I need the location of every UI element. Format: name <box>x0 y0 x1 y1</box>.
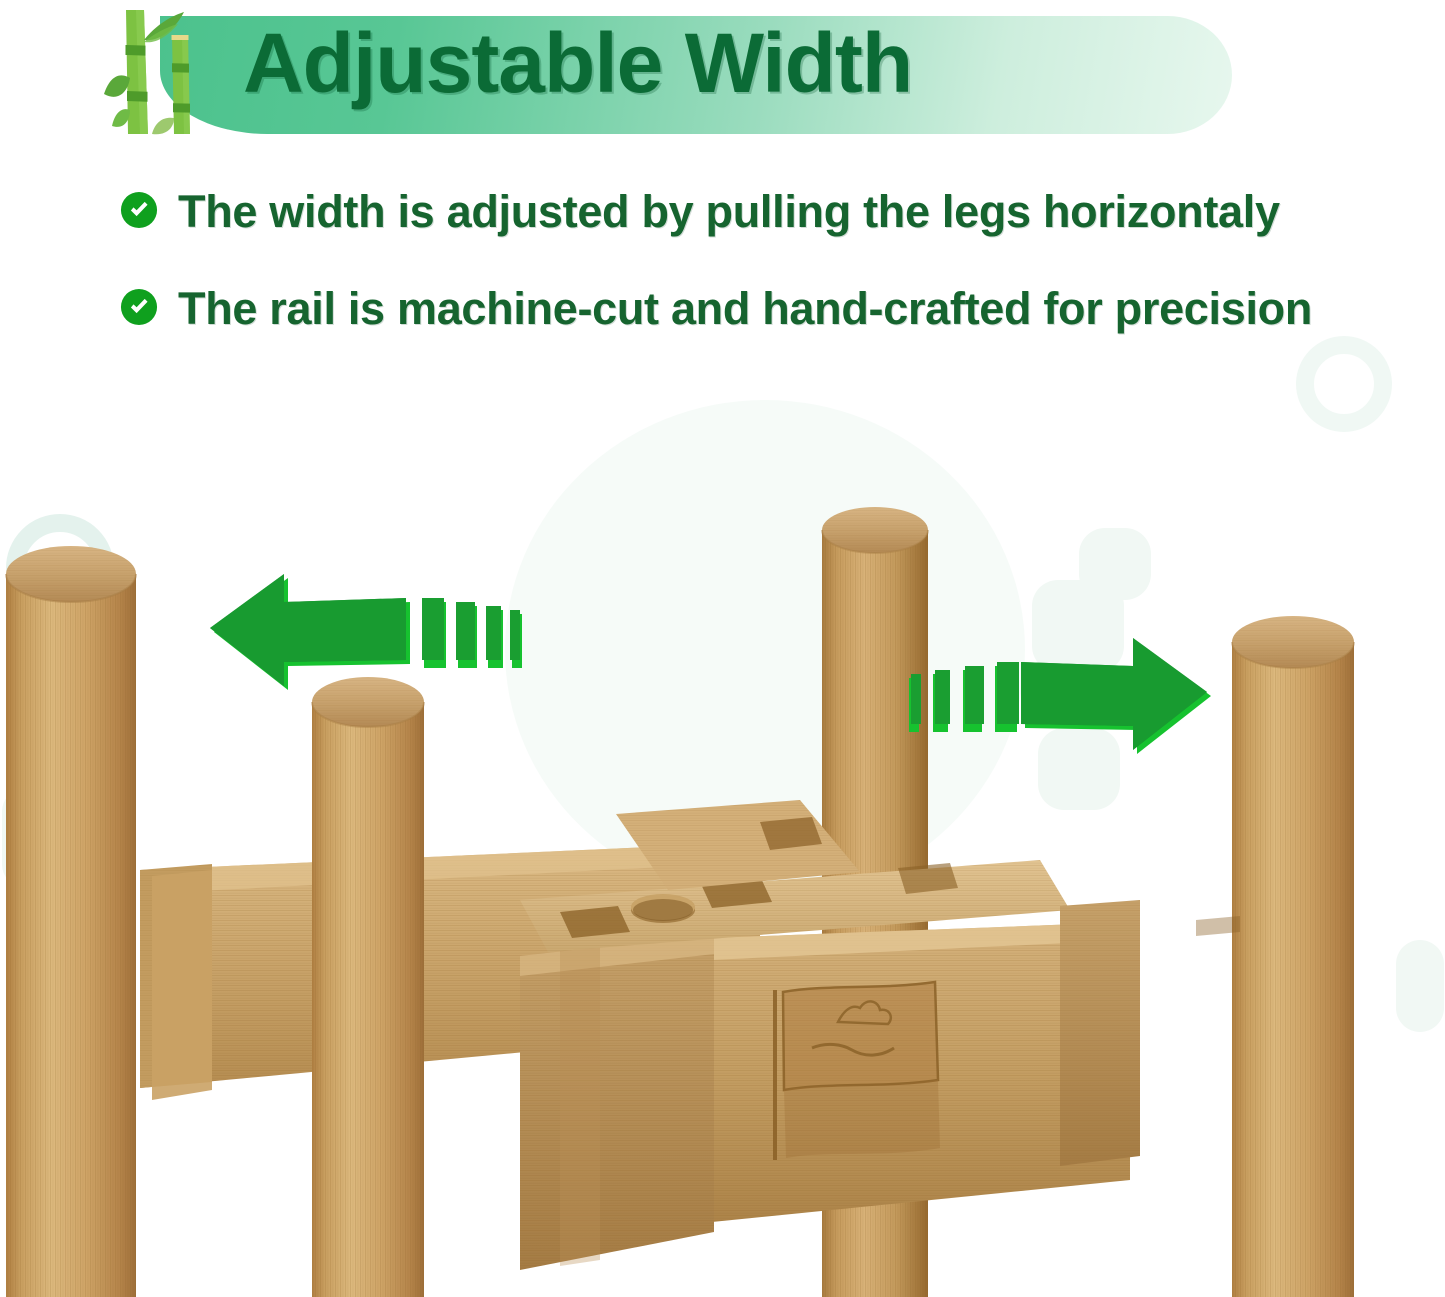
rail-slat-left <box>152 870 212 1100</box>
check-circle-icon <box>120 191 158 229</box>
bamboo-icon <box>98 6 218 138</box>
brand-logo-engraving <box>775 982 940 1160</box>
arrow-left-icon <box>196 572 526 690</box>
feature-list: The width is adjusted by pulling the leg… <box>120 182 1350 377</box>
page-title: Adjustable Width <box>243 14 912 113</box>
arrow-right-icon <box>905 638 1225 754</box>
motion-trail-bars <box>422 598 522 668</box>
rail-right-end <box>1060 900 1240 1166</box>
leg-front-right-overlay <box>1232 970 1354 1297</box>
motion-trail-bars <box>909 662 1019 732</box>
leg-front-left-overlay <box>6 770 136 1297</box>
list-item: The width is adjusted by pulling the leg… <box>120 182 1350 241</box>
infographic-root: Adjustable Width The width is adjusted b… <box>0 0 1445 1297</box>
rail-center-slider <box>520 934 714 1270</box>
feature-text: The width is adjusted by pulling the leg… <box>178 182 1280 241</box>
leg-back-left-overlay <box>312 850 424 1297</box>
feature-text: The rail is machine-cut and hand-crafted… <box>178 279 1312 338</box>
check-circle-icon <box>120 288 158 326</box>
list-item: The rail is machine-cut and hand-crafted… <box>120 279 1350 338</box>
